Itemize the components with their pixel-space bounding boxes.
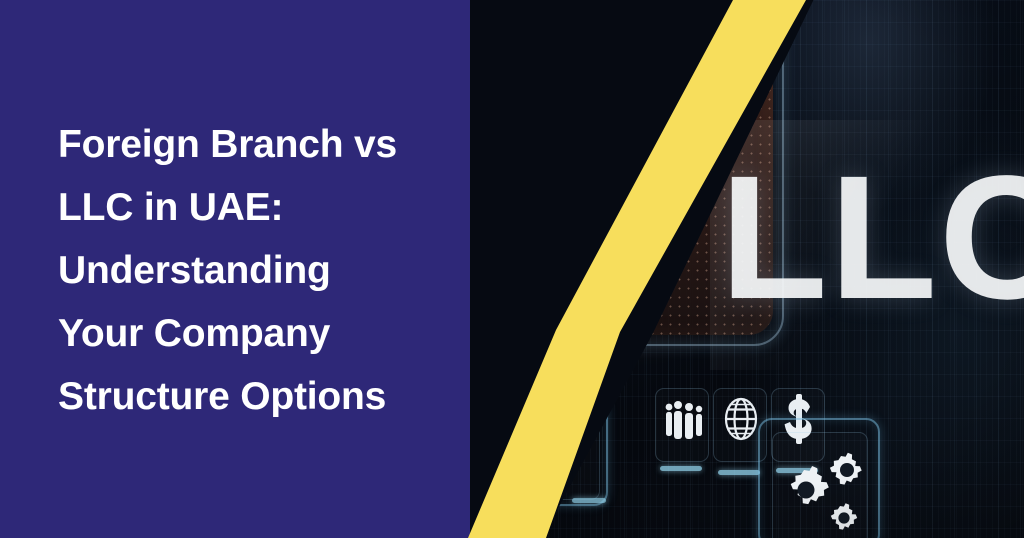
bar-chart <box>578 28 678 114</box>
bar <box>629 66 635 114</box>
bar <box>655 50 661 114</box>
bar <box>664 34 670 114</box>
photo-vignette <box>470 0 1024 538</box>
highlight-card <box>666 18 706 70</box>
bar <box>604 84 610 114</box>
bar <box>621 62 627 114</box>
page-title: Foreign Branch vs LLC in UAE: Understand… <box>58 113 488 428</box>
banner-image: LLC <box>0 0 1024 538</box>
bar <box>587 88 593 114</box>
bar <box>612 70 618 114</box>
bar <box>595 80 601 114</box>
bar <box>647 44 653 114</box>
decorative-frame <box>470 0 528 76</box>
bar <box>672 28 678 114</box>
tech-photo: LLC <box>470 0 1024 538</box>
bar <box>638 52 644 114</box>
bar <box>578 96 584 114</box>
